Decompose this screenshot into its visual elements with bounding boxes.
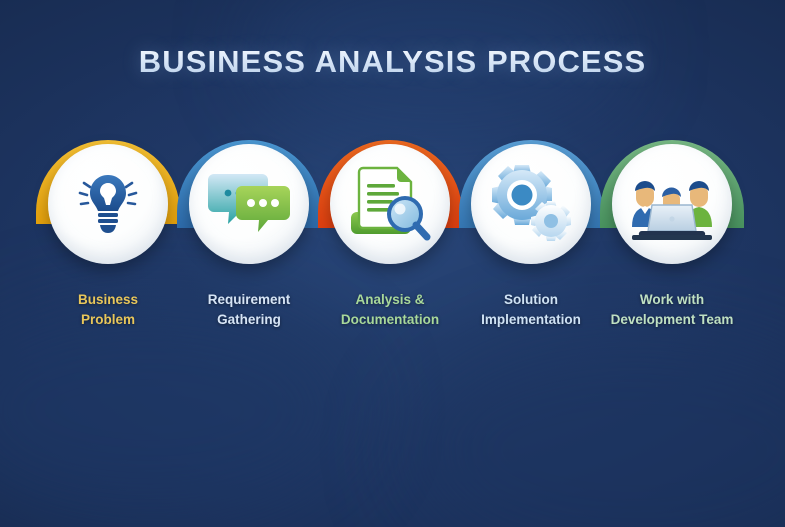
process-steps-container: Business Problem — [0, 118, 785, 348]
step-3-icon-disc — [330, 144, 450, 264]
document-magnifier-icon — [347, 162, 433, 246]
background-glow-right — [405, 330, 785, 527]
step-1-icon-disc — [48, 144, 168, 264]
step-4-icon-disc — [471, 144, 591, 264]
speech-bubbles-icon — [206, 164, 292, 244]
step-5-label: Work with Development Team — [577, 290, 767, 330]
lightbulb-icon — [69, 165, 147, 243]
step-5-icon-disc — [612, 144, 732, 264]
gears-icon — [488, 163, 574, 245]
page-title: BUSINESS ANALYSIS PROCESS — [0, 44, 785, 80]
infographic-canvas: BUSINESS ANALYSIS PROCESS — [0, 0, 785, 527]
step-2-icon-disc — [189, 144, 309, 264]
process-step-5[interactable]: Work with Development Team — [584, 118, 760, 348]
team-laptop-icon — [622, 165, 722, 243]
